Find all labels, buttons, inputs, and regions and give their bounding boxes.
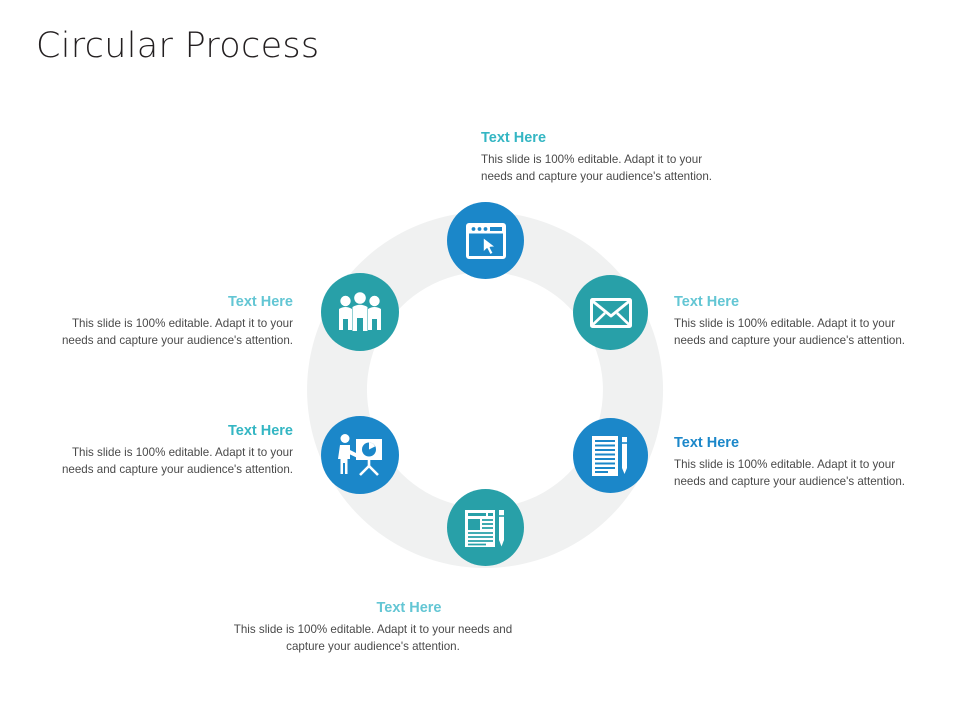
text-block-upper-left-heading: Text Here — [38, 294, 293, 311]
presentation-icon — [336, 433, 384, 477]
text-block-lower-right: Text Here This slide is 100% editable. A… — [674, 435, 936, 491]
text-block-upper-left-body: This slide is 100% editable. Adapt it to… — [38, 316, 293, 350]
newspaper-pen-icon — [464, 507, 508, 549]
node-circle-lower-left[interactable] — [321, 416, 399, 494]
text-block-top-body: This slide is 100% editable. Adapt it to… — [481, 152, 733, 186]
text-block-lower-left-heading: Text Here — [38, 423, 293, 440]
text-block-upper-right-body: This slide is 100% editable. Adapt it to… — [674, 316, 926, 350]
text-block-lower-right-body: This slide is 100% editable. Adapt it to… — [674, 457, 926, 491]
text-block-bottom-heading: Text Here — [228, 600, 518, 617]
text-block-bottom: Text Here This slide is 100% editable. A… — [228, 600, 518, 656]
text-block-lower-right-heading: Text Here — [674, 435, 936, 452]
envelope-icon — [590, 298, 632, 328]
node-circle-top[interactable] — [447, 202, 524, 279]
text-block-upper-right: Text Here This slide is 100% editable. A… — [674, 294, 936, 350]
browser-cursor-icon — [466, 223, 506, 259]
text-block-top: Text Here This slide is 100% editable. A… — [481, 130, 751, 186]
text-block-lower-left: Text Here This slide is 100% editable. A… — [38, 423, 293, 479]
text-block-bottom-body: This slide is 100% editable. Adapt it to… — [228, 622, 518, 656]
text-block-upper-right-heading: Text Here — [674, 294, 936, 311]
text-block-lower-left-body: This slide is 100% editable. Adapt it to… — [38, 445, 293, 479]
team-icon — [337, 292, 383, 332]
node-circle-lower-right[interactable] — [573, 418, 648, 493]
node-circle-upper-left[interactable] — [321, 273, 399, 351]
slide-canvas: Circular Process — [0, 0, 960, 720]
text-block-upper-left: Text Here This slide is 100% editable. A… — [38, 294, 293, 350]
document-pen-icon — [591, 435, 631, 477]
text-block-top-heading: Text Here — [481, 130, 751, 147]
node-circle-bottom[interactable] — [447, 489, 524, 566]
node-circle-upper-right[interactable] — [573, 275, 648, 350]
